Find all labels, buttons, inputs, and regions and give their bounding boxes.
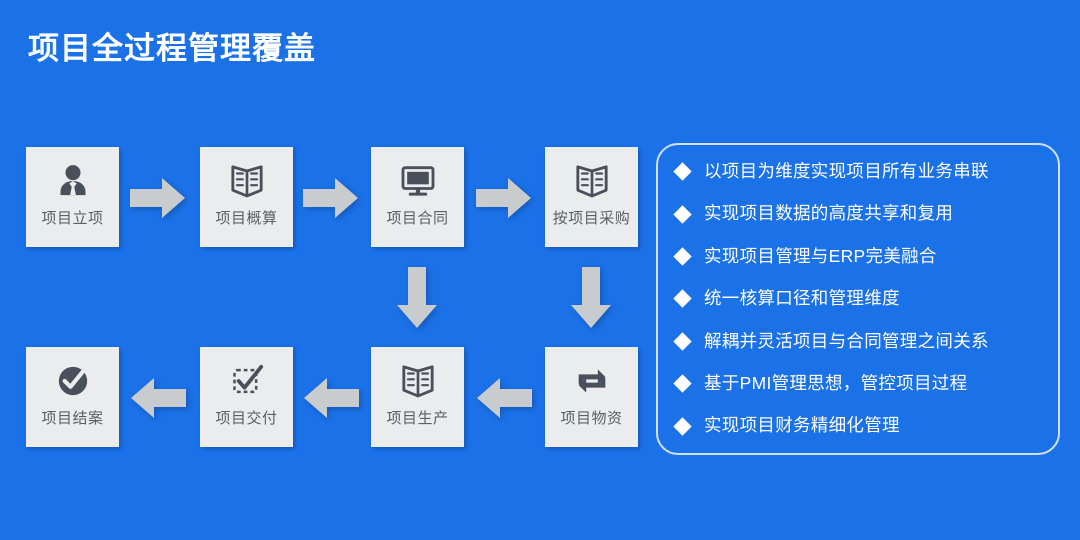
monitor-icon bbox=[395, 158, 441, 204]
diamond-bullet-icon bbox=[673, 163, 691, 181]
flow-step-label: 项目物资 bbox=[560, 411, 622, 426]
open-book-icon bbox=[569, 158, 615, 204]
flow-step-project-closure[interactable]: 项目结案 bbox=[26, 347, 119, 447]
benefit-text: 以项目为维度实现项目所有业务串联 bbox=[704, 163, 989, 181]
flow-step-label: 按项目采购 bbox=[553, 211, 631, 226]
repeat-cycle-icon bbox=[569, 358, 615, 404]
benefit-item: 实现项目财务精细化管理 bbox=[676, 417, 1048, 435]
flow-step-label: 项目生产 bbox=[386, 411, 448, 426]
benefit-text: 实现项目管理与ERP完美融合 bbox=[704, 248, 937, 266]
flow-step-project-delivery[interactable]: 项目交付 bbox=[200, 347, 293, 447]
flow-step-label: 项目结案 bbox=[41, 411, 103, 426]
arrow-right-icon bbox=[476, 177, 532, 219]
arrow-down-icon bbox=[396, 267, 438, 329]
slide-canvas: 项目全过程管理覆盖 项目立项 项目概算 bbox=[0, 0, 1080, 540]
benefit-item: 以项目为维度实现项目所有业务串联 bbox=[676, 163, 1048, 181]
arrow-left-icon bbox=[476, 377, 532, 419]
arrow-left-icon bbox=[130, 377, 186, 419]
flow-step-label: 项目立项 bbox=[41, 211, 103, 226]
diamond-bullet-icon bbox=[673, 375, 691, 393]
diamond-bullet-icon bbox=[673, 417, 691, 435]
benefits-panel: 以项目为维度实现项目所有业务串联 实现项目数据的高度共享和复用 实现项目管理与E… bbox=[656, 143, 1060, 455]
page-title: 项目全过程管理覆盖 bbox=[28, 30, 316, 67]
benefit-text: 解耦并灵活项目与合同管理之间关系 bbox=[704, 333, 989, 351]
person-icon bbox=[50, 158, 96, 204]
arrow-left-icon bbox=[303, 377, 359, 419]
benefit-item: 解耦并灵活项目与合同管理之间关系 bbox=[676, 333, 1048, 351]
diamond-bullet-icon bbox=[673, 205, 691, 223]
diamond-bullet-icon bbox=[673, 332, 691, 350]
flow-step-label: 项目交付 bbox=[215, 411, 277, 426]
dashed-check-icon bbox=[224, 358, 270, 404]
arrow-right-icon bbox=[130, 177, 186, 219]
diamond-bullet-icon bbox=[673, 247, 691, 265]
open-book-icon bbox=[224, 158, 270, 204]
benefit-text: 统一核算口径和管理维度 bbox=[704, 290, 900, 308]
diamond-bullet-icon bbox=[673, 290, 691, 308]
arrow-down-icon bbox=[570, 267, 612, 329]
benefit-item: 实现项目数据的高度共享和复用 bbox=[676, 205, 1048, 223]
benefit-text: 实现项目财务精细化管理 bbox=[704, 417, 900, 435]
flow-step-project-purchase[interactable]: 按项目采购 bbox=[545, 147, 638, 247]
flow-step-label: 项目概算 bbox=[215, 211, 277, 226]
benefit-text: 实现项目数据的高度共享和复用 bbox=[704, 205, 953, 223]
benefit-item: 统一核算口径和管理维度 bbox=[676, 290, 1048, 308]
flow-step-project-production[interactable]: 项目生产 bbox=[371, 347, 464, 447]
open-book-icon bbox=[395, 358, 441, 404]
flow-step-project-initiation[interactable]: 项目立项 bbox=[26, 147, 119, 247]
flow-step-project-budget[interactable]: 项目概算 bbox=[200, 147, 293, 247]
check-circle-icon bbox=[50, 358, 96, 404]
flow-step-label: 项目合同 bbox=[386, 211, 448, 226]
benefit-item: 基于PMI管理思想，管控项目过程 bbox=[676, 375, 1048, 393]
flow-step-project-materials[interactable]: 项目物资 bbox=[545, 347, 638, 447]
benefit-item: 实现项目管理与ERP完美融合 bbox=[676, 248, 1048, 266]
flow-step-project-contract[interactable]: 项目合同 bbox=[371, 147, 464, 247]
arrow-right-icon bbox=[303, 177, 359, 219]
benefit-text: 基于PMI管理思想，管控项目过程 bbox=[704, 375, 967, 393]
